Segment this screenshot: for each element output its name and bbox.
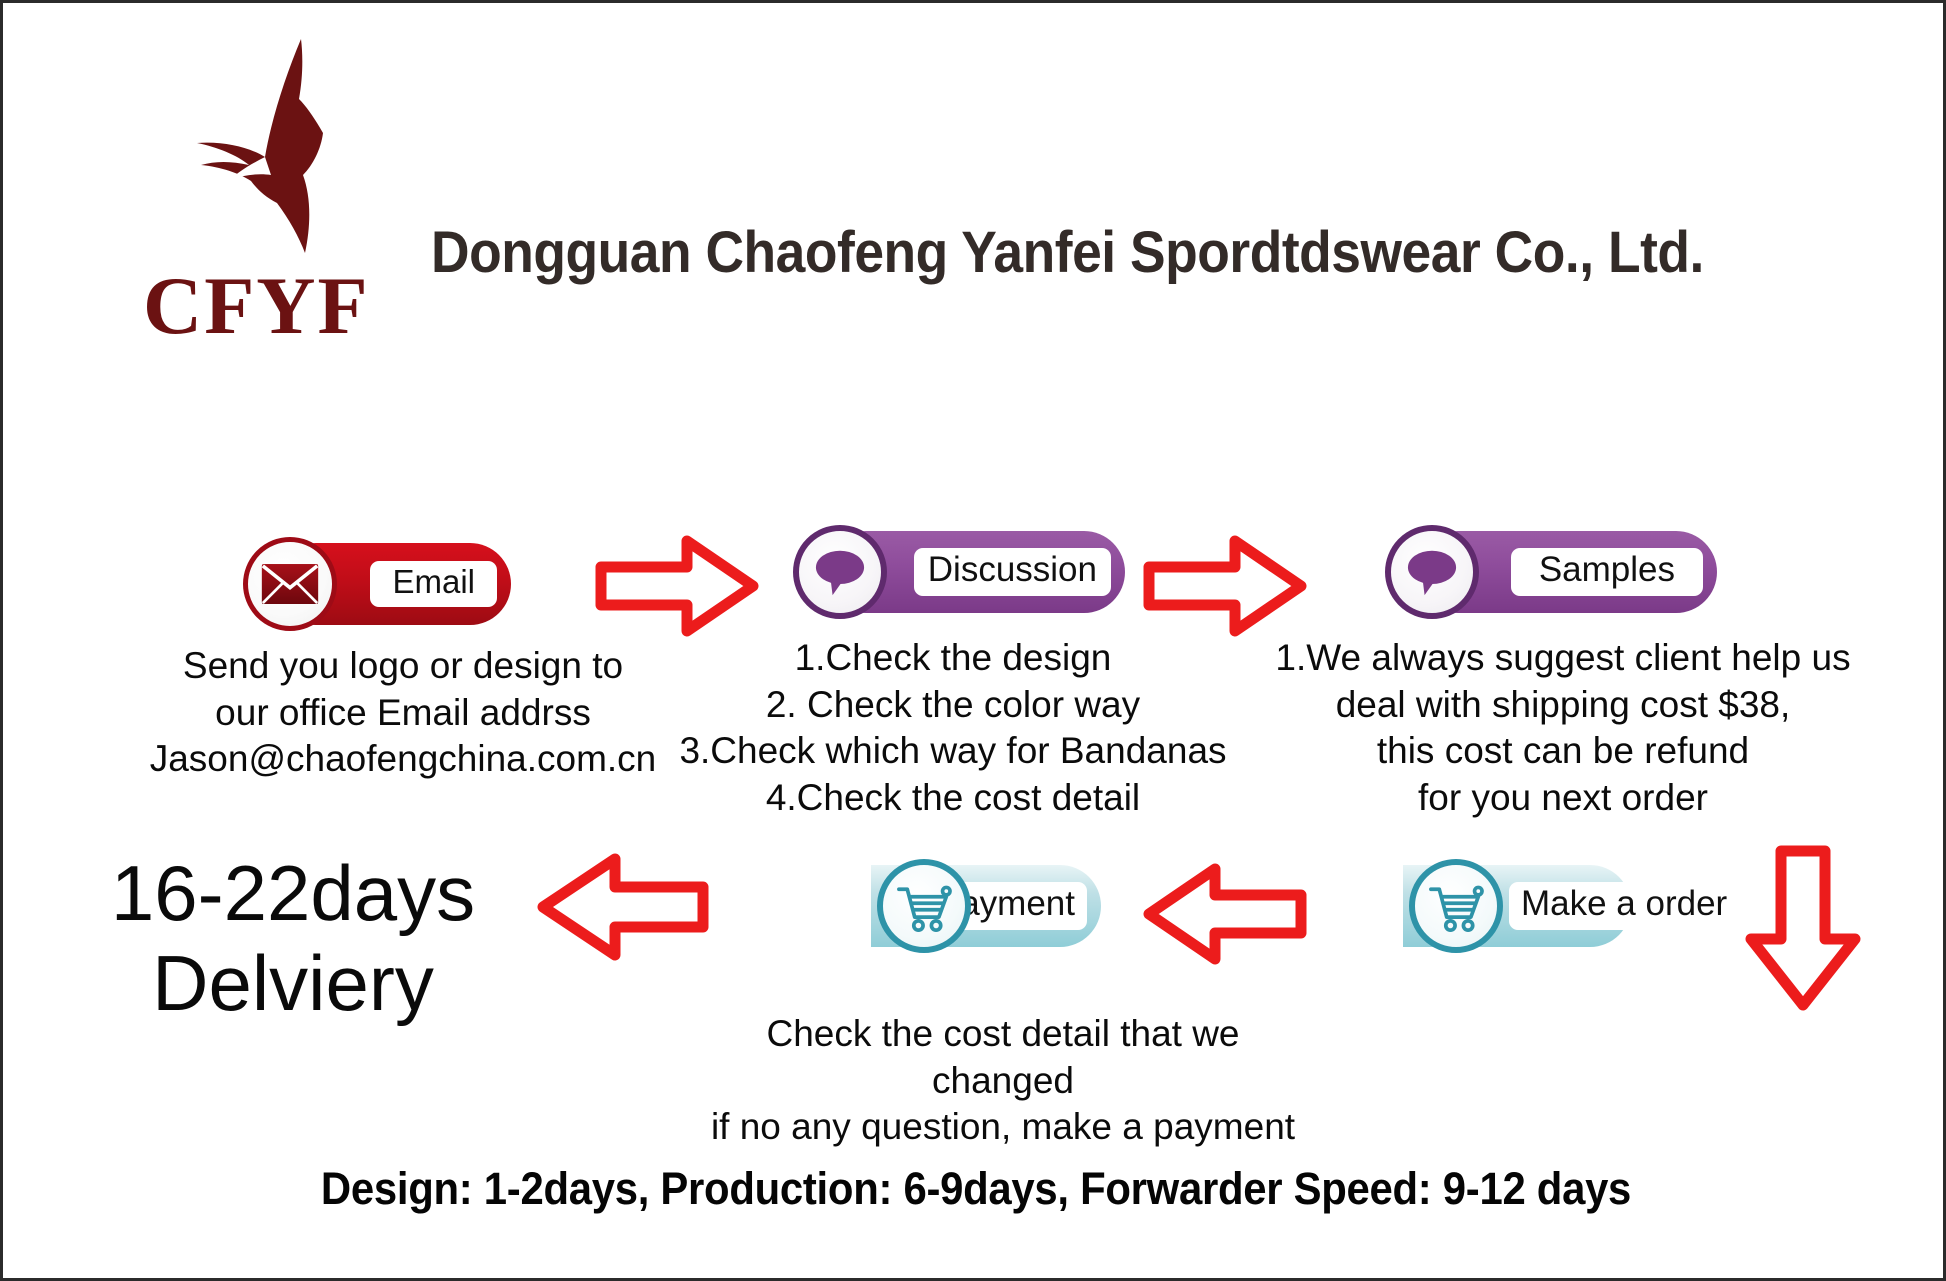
badge-samples-label: Samples (1511, 548, 1703, 596)
description-payment: Check the cost detail that we changed if… (693, 1011, 1313, 1151)
badge-samples[interactable]: Samples (1385, 531, 1715, 613)
shopping-cart-icon (877, 859, 971, 953)
arrow-left-icon (535, 849, 711, 965)
badge-make-a-order[interactable]: Make a order (1403, 865, 1715, 947)
arrow-right-icon (1141, 531, 1309, 641)
description-samples: 1.We always suggest client help us deal … (1273, 635, 1853, 821)
swallow-bird-logo-icon (153, 33, 363, 253)
badge-email[interactable]: Email (243, 543, 511, 625)
description-discussion: 1.Check the design 2. Check the color wa… (643, 635, 1263, 821)
delivery-time-text: 16-22days Delviery (63, 848, 523, 1029)
speech-bubble-icon (1385, 525, 1479, 619)
badge-discussion-label: Discussion (914, 548, 1111, 596)
badge-payment[interactable]: Payment (871, 865, 1127, 947)
badge-email-label: Email (370, 561, 497, 607)
badge-discussion[interactable]: Discussion (793, 531, 1123, 613)
delivery-line-2: Delviery (63, 938, 523, 1028)
envelope-icon (243, 537, 337, 631)
arrow-down-icon (1743, 843, 1863, 1015)
speech-bubble-icon (793, 525, 887, 619)
shopping-cart-icon (1409, 859, 1503, 953)
infographic-page: CFYF Dongguan Chaofeng Yanfei Spordtdswe… (0, 0, 1946, 1281)
company-name: Dongguan Chaofeng Yanfei Spordtdswear Co… (431, 219, 1704, 286)
badge-make-a-order-label: Make a order (1509, 882, 1739, 930)
description-email: Send you logo or design to our office Em… (123, 643, 683, 783)
footer-summary-note: Design: 1-2days, Production: 6-9days, Fo… (71, 1163, 1881, 1215)
delivery-line-1: 16-22days (63, 848, 523, 938)
cfyf-wordmark: CFYF (143, 265, 370, 347)
arrow-left-icon (1141, 859, 1309, 969)
arrow-right-icon (593, 531, 761, 641)
